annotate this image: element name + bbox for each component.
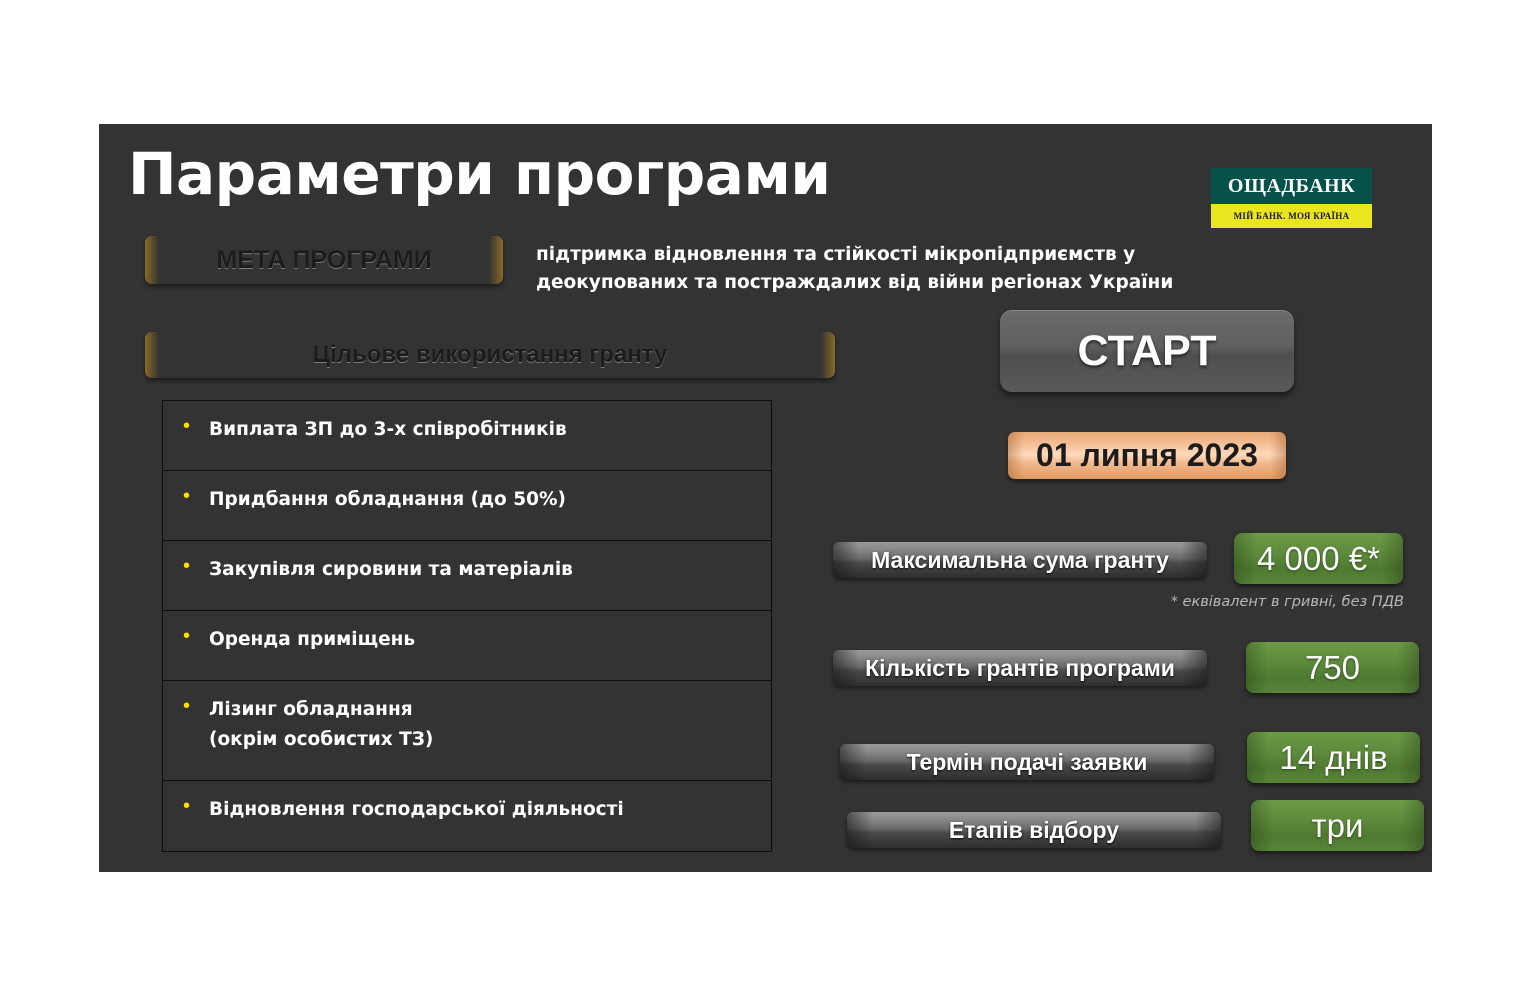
list-item[interactable]: • Відновлення господарської діяльності <box>163 781 771 851</box>
list-item-label: Відновлення господарської діяльності <box>209 795 624 825</box>
start-label: СТАРТ <box>1078 327 1217 376</box>
list-item[interactable]: • Придбання обладнання (до 50%) <box>163 471 771 541</box>
logo-slogan: МІЙ БАНК. МОЯ КРАЇНА <box>1234 211 1350 221</box>
grant-usage-header-label: Цільове використання гранту <box>313 341 668 369</box>
bullet-icon: • <box>175 625 209 647</box>
metric-label-text: Максимальна сума гранту <box>871 547 1169 574</box>
metric-value-grant-count: 750 <box>1246 642 1419 693</box>
bullet-icon: • <box>175 555 209 577</box>
list-item[interactable]: • Закупівля сировини та матеріалів <box>163 541 771 611</box>
grant-usage-list: • Виплата ЗП до 3-х співробітників • При… <box>162 400 772 852</box>
metric-value-text: 14 днів <box>1279 739 1387 777</box>
footnote-vat: * еквівалент в гривні, без ПДВ <box>1134 594 1404 610</box>
metric-value-selection-stages: три <box>1251 800 1424 851</box>
metric-label-grant-count: Кількість грантів програми <box>833 650 1207 686</box>
goal-description: підтримка відновлення та стійкості мікро… <box>536 241 1196 297</box>
page-title: Параметри програми <box>128 140 831 208</box>
metric-value-application-term: 14 днів <box>1247 732 1420 783</box>
list-item-label: Лізинг обладнання (окрім особистих ТЗ) <box>209 695 433 755</box>
list-item-label: Оренда приміщень <box>209 625 415 655</box>
metric-value-text: 750 <box>1305 649 1360 687</box>
metric-label-selection-stages: Етапів відбору <box>847 812 1221 848</box>
bullet-icon: • <box>175 485 209 507</box>
start-date-value: 01 липня 2023 <box>1036 437 1258 474</box>
list-item-label: Придбання обладнання (до 50%) <box>209 485 566 515</box>
metric-label-text: Етапів відбору <box>949 817 1119 844</box>
slide-panel: Параметри програми ОЩАДБАНК МІЙ БАНК. МО… <box>99 124 1432 872</box>
list-item-label: Закупівля сировини та матеріалів <box>209 555 573 585</box>
metric-label-application-term: Термін подачі заявки <box>840 744 1214 780</box>
metric-value-max-grant-amount: 4 000 €* <box>1234 533 1403 584</box>
list-item[interactable]: • Оренда приміщень <box>163 611 771 681</box>
bullet-icon: • <box>175 415 209 437</box>
list-item-label: Виплата ЗП до 3-х співробітників <box>209 415 567 445</box>
metric-label-text: Термін подачі заявки <box>907 749 1148 776</box>
metric-value-text: три <box>1312 807 1364 845</box>
metric-label-max-grant-amount: Максимальна сума гранту <box>833 542 1207 578</box>
list-item[interactable]: • Виплата ЗП до 3-х співробітників <box>163 401 771 471</box>
logo-name: ОЩАДБАНК <box>1228 175 1355 198</box>
metric-value-text: 4 000 €* <box>1257 540 1380 578</box>
bullet-icon: • <box>175 795 209 817</box>
list-item[interactable]: • Лізинг обладнання (окрім особистих ТЗ) <box>163 681 771 781</box>
start-date-badge: 01 липня 2023 <box>1008 432 1286 479</box>
logo-name-block: ОЩАДБАНК <box>1211 168 1372 204</box>
goal-program-label: МЕТА ПРОГРАМИ <box>216 246 431 275</box>
goal-program-button[interactable]: МЕТА ПРОГРАМИ <box>145 236 503 284</box>
bullet-icon: • <box>175 695 209 717</box>
logo-slogan-block: МІЙ БАНК. МОЯ КРАЇНА <box>1211 204 1372 228</box>
start-button[interactable]: СТАРТ <box>1000 310 1294 392</box>
grant-usage-header-button[interactable]: Цільове використання гранту <box>145 332 835 378</box>
metric-label-text: Кількість грантів програми <box>865 655 1175 682</box>
oschadbank-logo: ОЩАДБАНК МІЙ БАНК. МОЯ КРАЇНА <box>1211 168 1372 228</box>
